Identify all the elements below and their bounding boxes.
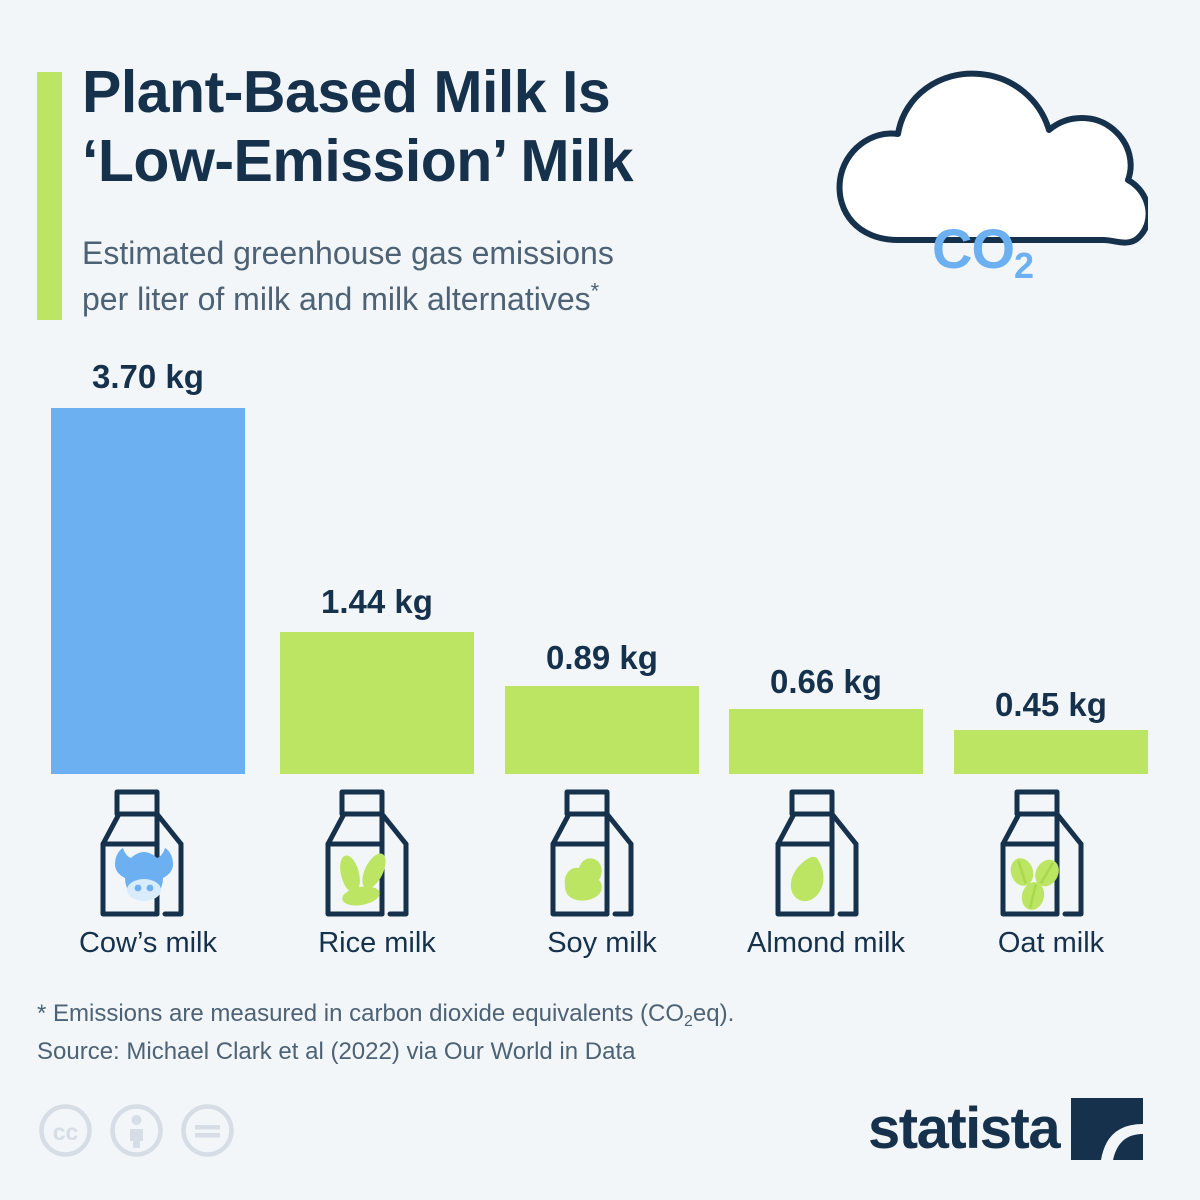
bar-value-label: 0.89 kg	[505, 639, 699, 677]
footnote-prefix: * Emissions are measured in carbon dioxi…	[37, 1000, 684, 1027]
soy-milk-carton-icon	[545, 786, 655, 926]
bar-value-label: 1.44 kg	[280, 583, 474, 621]
statista-logo[interactable]: statista	[868, 1098, 1143, 1160]
bar-cow-milk	[51, 408, 245, 774]
rice-milk-carton-icon	[320, 786, 430, 926]
attribution-person-icon[interactable]	[109, 1103, 164, 1158]
footnote-emissions-note: * Emissions are measured in carbon dioxi…	[37, 1000, 734, 1028]
bar-soy-milk	[505, 686, 699, 774]
bar-value-label: 3.70 kg	[51, 358, 245, 396]
cow-milk-carton-icon	[95, 786, 205, 926]
category-label-rice-milk: Rice milk	[280, 927, 474, 960]
category-label-cow-milk: Cow’s milk	[51, 927, 245, 960]
no-derivatives-equals-icon[interactable]	[180, 1103, 235, 1158]
category-label-soy-milk: Soy milk	[505, 927, 699, 960]
bar-oat-milk	[954, 730, 1148, 774]
footnote-source: Source: Michael Clark et al (2022) via O…	[37, 1038, 635, 1066]
statista-wordmark: statista	[868, 1100, 1059, 1158]
svg-text:cc: cc	[53, 1119, 79, 1145]
bar-value-label: 0.66 kg	[729, 663, 923, 701]
footnote-suffix: eq).	[693, 1000, 734, 1027]
infographic-root: Plant-Based Milk Is ‘Low-Emission’ Milk …	[0, 0, 1200, 1200]
bar-value-label: 0.45 kg	[954, 686, 1148, 724]
statista-mark-icon	[1071, 1098, 1143, 1160]
category-label-oat-milk: Oat milk	[954, 927, 1148, 960]
category-label-almond-milk: Almond milk	[719, 927, 933, 960]
bar-rice-milk	[280, 632, 474, 774]
bar-almond-milk	[729, 709, 923, 774]
footnote-subscript: 2	[684, 1013, 693, 1030]
creative-commons-license-icons: cc	[38, 1103, 235, 1158]
creative-commons-icon[interactable]: cc	[38, 1103, 93, 1158]
almond-milk-carton-icon	[770, 786, 880, 926]
oat-milk-carton-icon	[995, 786, 1105, 926]
